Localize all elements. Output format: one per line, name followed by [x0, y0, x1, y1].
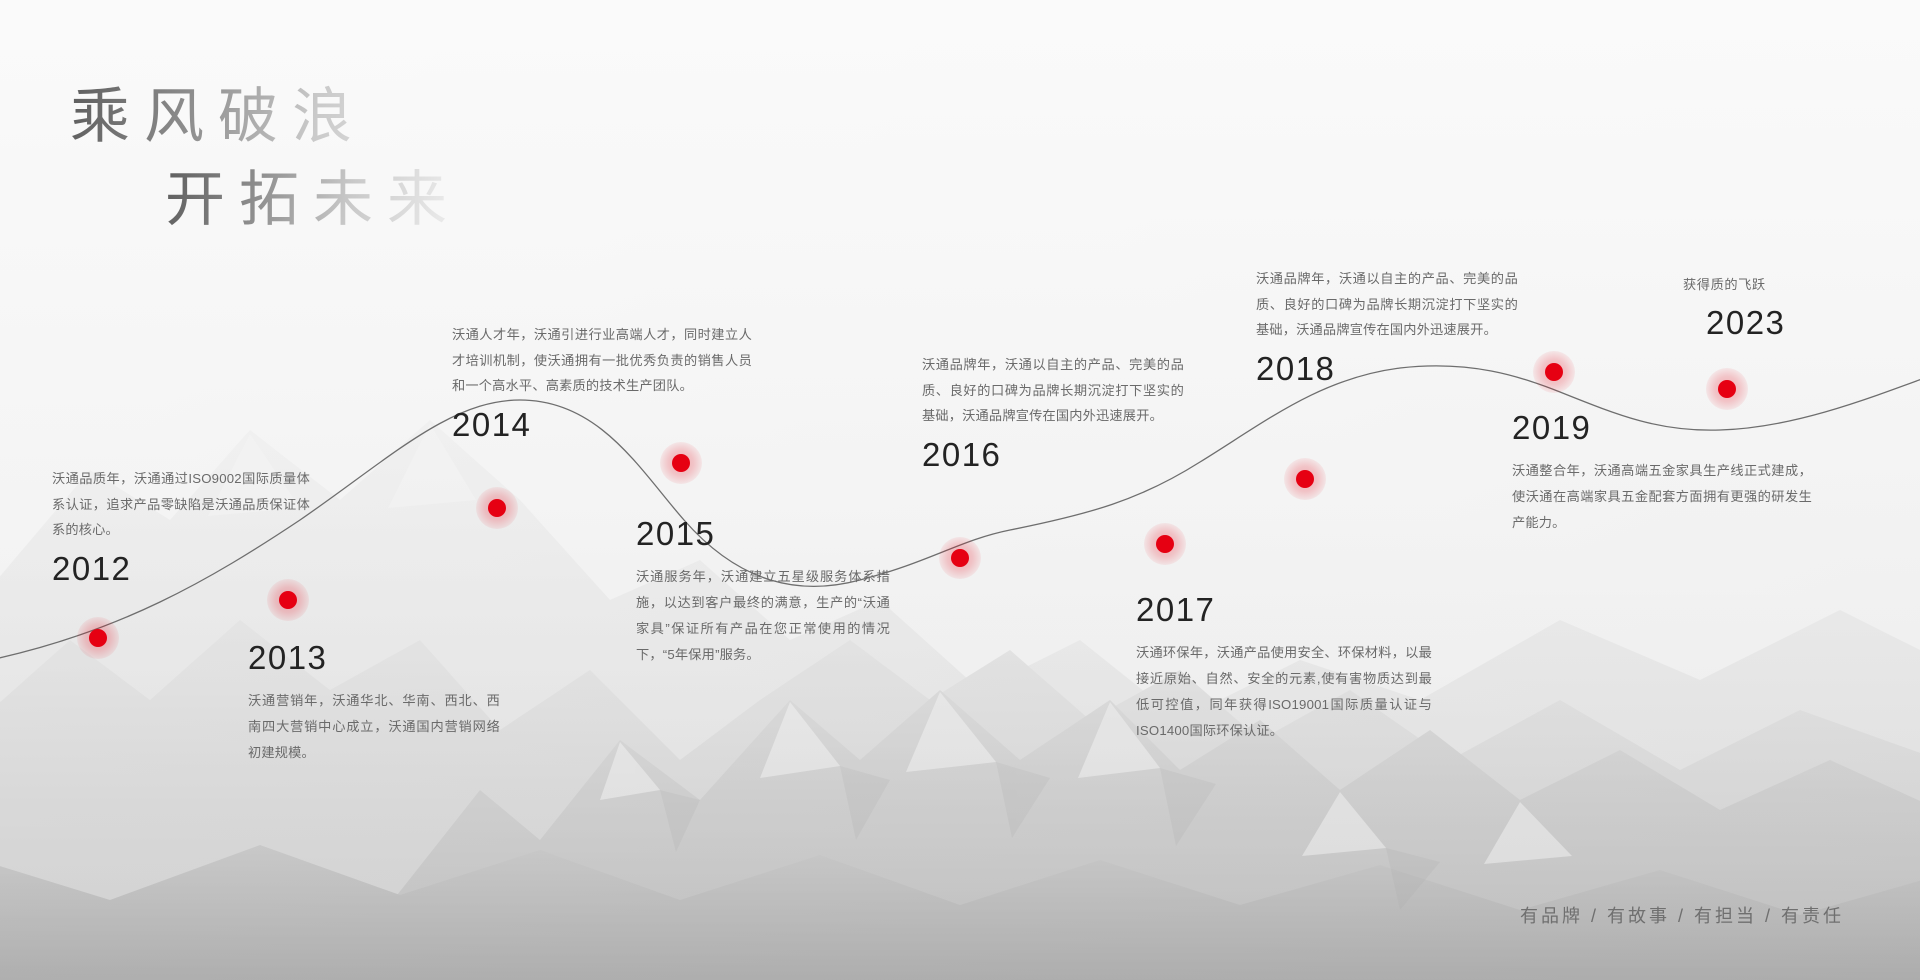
headline-line-1: 乘风破浪 [70, 76, 461, 159]
node-dot-icon [1718, 380, 1736, 398]
entry-description: 获得质的飞跃 [1683, 272, 1913, 297]
entry-description: 沃通品牌年，沃通以自主的产品、完美的品质、良好的口碑为品牌长期沉淀打下坚实的基础… [922, 352, 1184, 429]
node-dot-icon [951, 549, 969, 567]
entry-year: 2015 [636, 516, 890, 552]
timeline-entry-2017: 2017 沃通环保年，沃通产品使用安全、环保材料，以最接近原始、自然、安全的元素… [1136, 592, 1432, 743]
page-title: 乘风破浪 开拓未来 [70, 76, 461, 242]
footer-tagline: 有品牌 / 有故事 / 有担当 / 有责任 [1520, 902, 1844, 928]
timeline-infographic: 乘风破浪 开拓未来 沃通品质年，沃通 [0, 0, 1920, 980]
timeline-entry-2023: 获得质的飞跃 2023 [1683, 272, 1913, 341]
entry-year: 2019 [1512, 410, 1812, 446]
node-dot-icon [89, 629, 107, 647]
node-dot-icon [1156, 535, 1174, 553]
node-dot-icon [279, 591, 297, 609]
entry-year: 2014 [452, 407, 752, 443]
entry-year: 2013 [248, 640, 500, 676]
headline-line-2: 开拓未来 [165, 159, 461, 242]
node-dot-icon [1545, 363, 1563, 381]
entry-year: 2017 [1136, 592, 1432, 628]
timeline-entry-2014: 沃通人才年，沃通引进行业高端人才，同时建立人才培训机制，使沃通拥有一批优秀负责的… [452, 322, 752, 444]
entry-year: 2018 [1256, 351, 1518, 387]
entry-year: 2016 [922, 437, 1184, 473]
node-dot-icon [488, 499, 506, 517]
entry-description: 沃通服务年，沃通建立五星级服务体系措施，以达到客户最终的满意，生产的“沃通家具”… [636, 564, 890, 667]
entry-year: 2012 [52, 551, 310, 587]
entry-description: 沃通品牌年，沃通以自主的产品、完美的品质、良好的口碑为品牌长期沉淀打下坚实的基础… [1256, 266, 1518, 343]
timeline-entry-2019: 2019 沃通整合年，沃通高端五金家具生产线正式建成，使沃通在高端家具五金配套方… [1512, 410, 1812, 536]
timeline-entry-2016: 沃通品牌年，沃通以自主的产品、完美的品质、良好的口碑为品牌长期沉淀打下坚实的基础… [922, 352, 1184, 474]
node-dot-icon [1296, 470, 1314, 488]
timeline-entry-2018: 沃通品牌年，沃通以自主的产品、完美的品质、良好的口碑为品牌长期沉淀打下坚实的基础… [1256, 266, 1518, 388]
entry-description: 沃通品质年，沃通通过ISO9002国际质量体系认证，追求产品零缺陷是沃通品质保证… [52, 466, 310, 543]
timeline-entry-2015: 2015 沃通服务年，沃通建立五星级服务体系措施，以达到客户最终的满意，生产的“… [636, 516, 890, 667]
timeline-entry-2012: 沃通品质年，沃通通过ISO9002国际质量体系认证，追求产品零缺陷是沃通品质保证… [52, 466, 310, 588]
node-dot-icon [672, 454, 690, 472]
entry-description: 沃通整合年，沃通高端五金家具生产线正式建成，使沃通在高端家具五金配套方面拥有更强… [1512, 458, 1812, 535]
entry-year: 2023 [1706, 305, 1913, 341]
entry-description: 沃通环保年，沃通产品使用安全、环保材料，以最接近原始、自然、安全的元素,使有害物… [1136, 640, 1432, 743]
entry-description: 沃通营销年，沃通华北、华南、西北、西南四大营销中心成立，沃通国内营销网络初建规模… [248, 688, 500, 765]
timeline-entry-2013: 2013 沃通营销年，沃通华北、华南、西北、西南四大营销中心成立，沃通国内营销网… [248, 640, 500, 766]
entry-description: 沃通人才年，沃通引进行业高端人才，同时建立人才培训机制，使沃通拥有一批优秀负责的… [452, 322, 752, 399]
